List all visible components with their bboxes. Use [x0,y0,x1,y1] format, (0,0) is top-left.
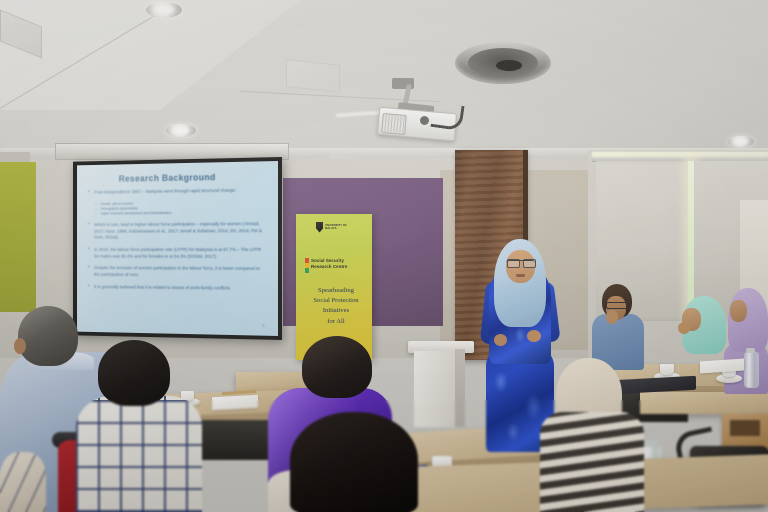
centre-name-line2: Research Centre [311,264,347,270]
coffee-cup [660,364,674,375]
university-name: UNIVERSITY OF MALAYA [325,224,352,230]
university-logo: UNIVERSITY OF MALAYA [316,220,352,234]
attendee-lilac-hijab-face [730,300,747,322]
attendee-long-hair-head [290,412,418,512]
downlight-icon [166,124,196,137]
bottle-cap [643,440,657,447]
slide-bullet: It is generally believed that it is rela… [88,284,267,292]
bottle-cap [746,348,755,353]
projector-knob [420,116,429,125]
table-mid-right [640,392,768,414]
presenter-hand-left [494,334,507,346]
blind-top-glow [592,152,768,157]
slide-bullet: In 2016, the labour force participation … [88,247,267,260]
centre-logo: Social Security Research Centre [305,258,367,273]
slide-bullet: Post-independence 1957 – Malaysia went t… [88,187,267,196]
attendee-checked-shirt-head [98,340,170,406]
downlight-icon [728,136,754,147]
banner-tagline-line: Spearheading [304,286,368,296]
attendee-purple-satin-head [302,336,372,398]
ceiling-vent-hole [496,60,522,71]
attendee-hand [606,310,618,324]
attendee-checked-shirt-body [76,396,202,512]
slide-page-number: 3 [262,324,264,328]
seminar-room-photo: Research Background Post-independence 19… [0,0,768,512]
tricolour-stripe-icon [305,258,309,273]
eyeglasses-icon [606,302,628,309]
water-bottle[interactable] [744,352,759,388]
wooden-tray-inner [730,420,760,436]
slide-subbullet: Higher economic development and industri… [88,210,267,217]
slide-bullet: Which in turn, lead to higher labour for… [88,221,267,241]
slide-title: Research Background [119,172,216,183]
university-crest-icon [316,222,323,233]
downlight-icon [146,2,182,18]
presenter-hand-right [527,330,541,342]
attendee-grey-hair-man-head [18,306,78,366]
attendee-partial-left-pattern [0,452,46,512]
centre-name-line1: Social Security [311,258,347,264]
green-accent-wall [0,162,36,312]
slide-body: Post-independence 1957 – Malaysia went t… [88,187,267,298]
attendee-striped-top [540,412,644,512]
ceiling [0,0,768,160]
ceiling-access-panel [286,59,340,93]
projector-lens [381,113,407,135]
attendee-ear [14,338,26,354]
attendee-hand [678,322,690,334]
presenter-mouth [516,274,525,277]
notepad [212,395,258,410]
lectern-side-panel [455,349,465,427]
projection-screen: Research Background Post-independence 19… [77,161,278,336]
slide-bullet: Despite the increase of women participat… [88,265,267,279]
eyeglasses-bridge [506,260,535,267]
banner-tagline-line: for All [304,317,368,327]
banner-tagline-line: Social Protection [304,296,368,306]
banner-tagline-line: Initiatives [304,306,368,316]
